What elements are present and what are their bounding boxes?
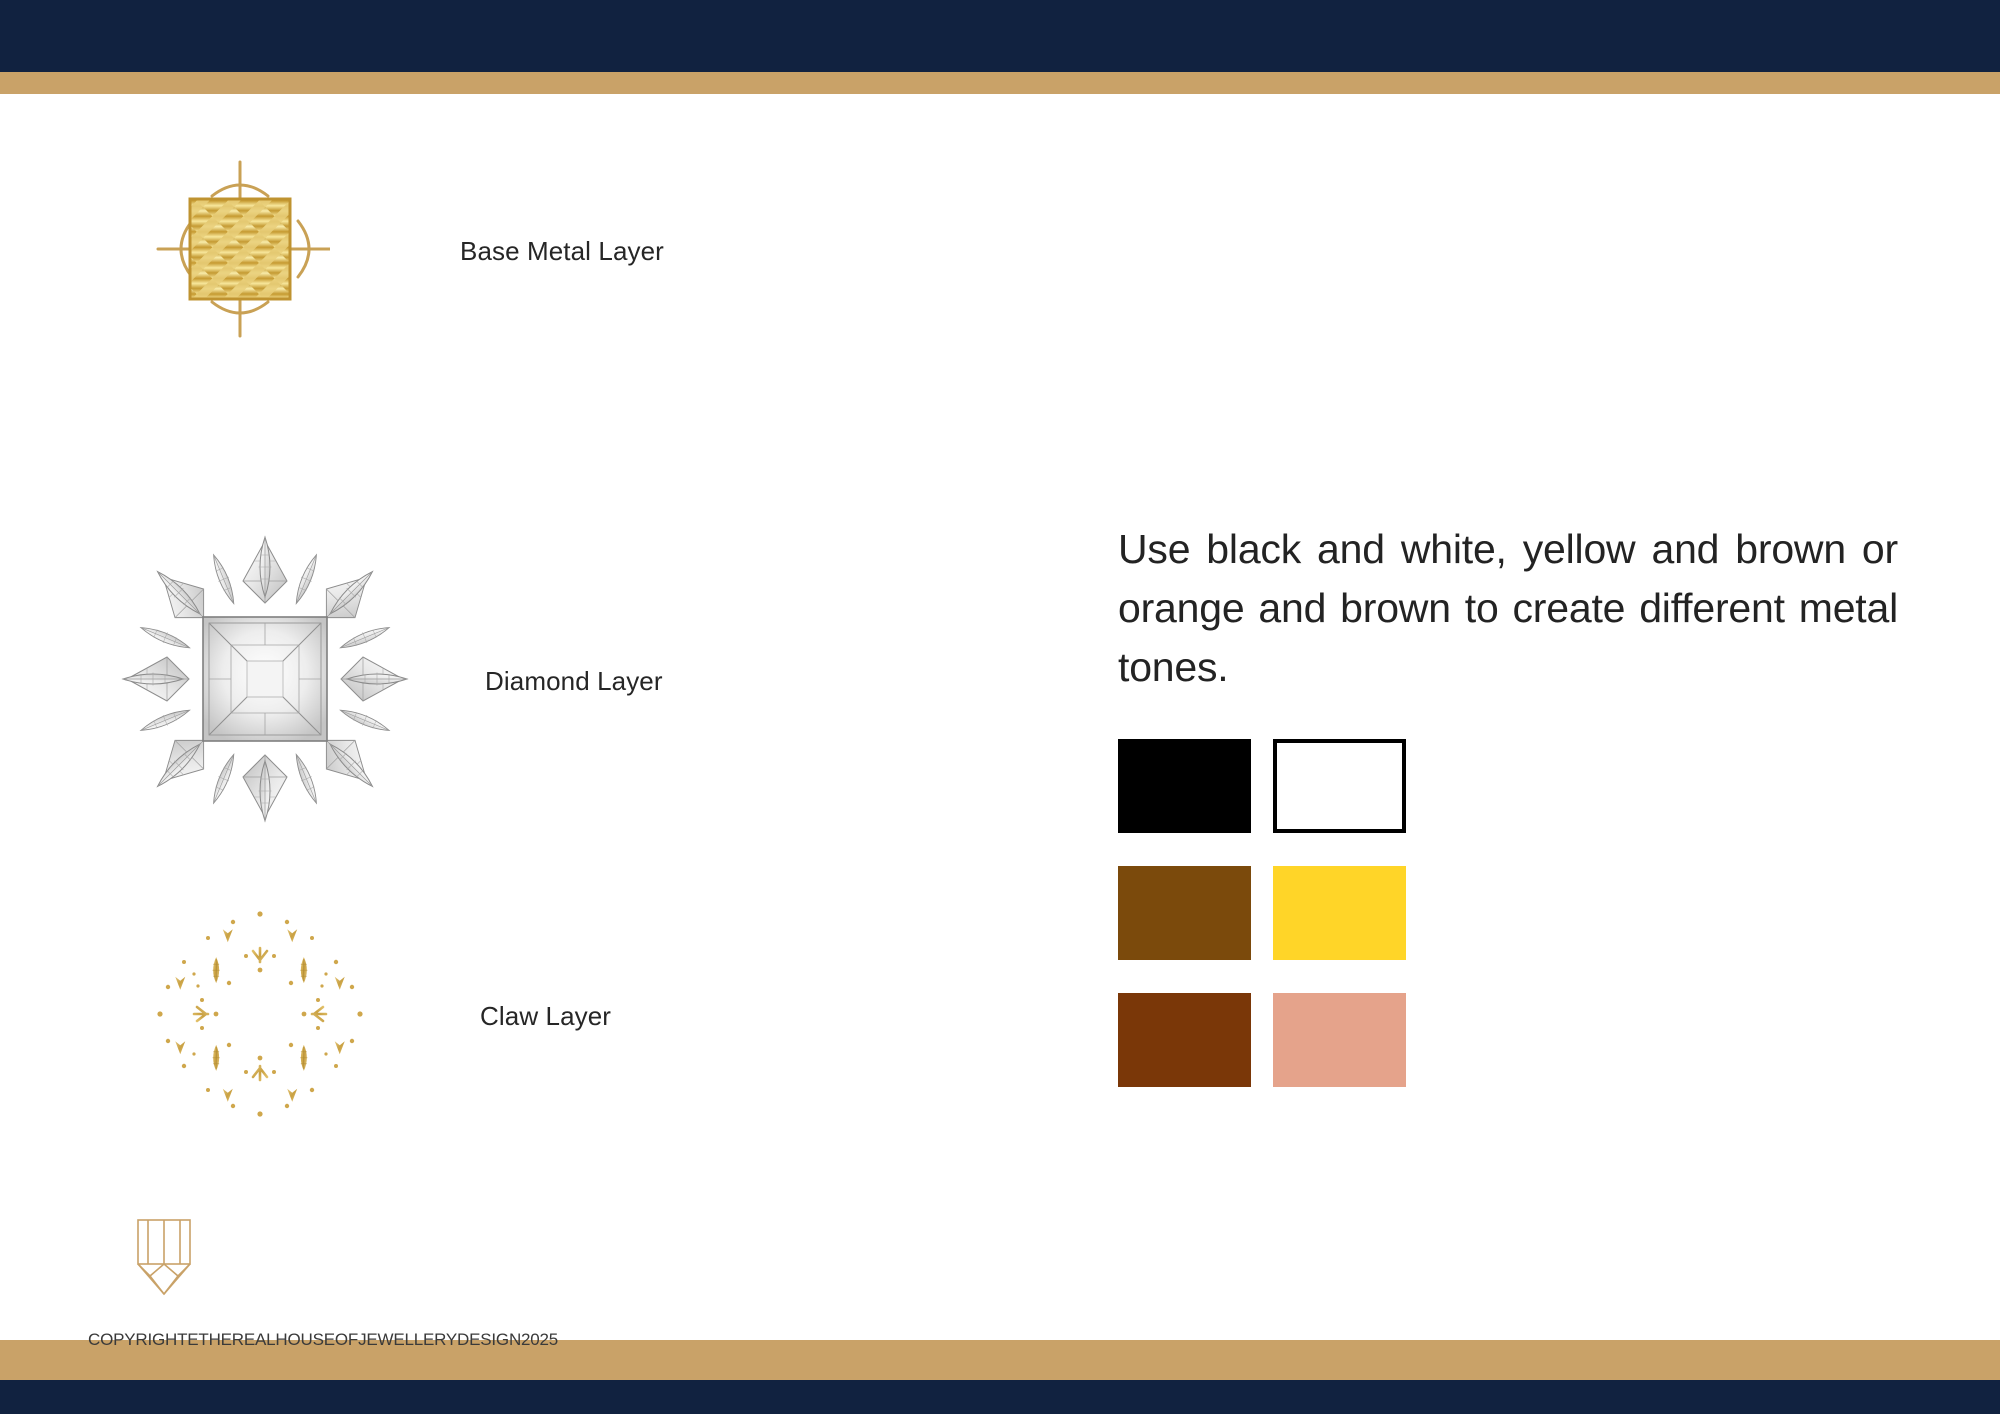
slide-canvas: Base Metal Layer <box>0 0 2000 1414</box>
color-swatch-grid <box>1118 739 1898 1087</box>
swatch-medium-brown[interactable] <box>1118 866 1251 960</box>
swatch-dark-brown[interactable] <box>1118 993 1251 1087</box>
swatch-gap <box>1251 866 1273 960</box>
swatch-row-gap <box>1118 833 1140 866</box>
layer-diagram-list: Base Metal Layer <box>0 94 1060 1274</box>
brand-logo <box>134 1218 194 1296</box>
swatch-gap <box>1251 739 1273 833</box>
base-metal-visual <box>150 154 330 349</box>
swatch-white[interactable] <box>1273 739 1406 833</box>
layer-row-diamond: Diamond Layer <box>120 534 663 829</box>
layer-label-base-metal: Base Metal Layer <box>460 236 664 267</box>
layer-row-claw: Claw Layer <box>150 904 611 1129</box>
claw-ring-visual <box>150 904 370 1129</box>
diamond-cluster-visual <box>120 534 410 829</box>
swatch-row-gap <box>1251 833 1273 866</box>
gold-hatched-square-icon <box>150 154 330 344</box>
copyright-notice: COPYRIGHTETHEREALHOUSEOFJEWELLERYDESIGN2… <box>88 1330 558 1350</box>
metal-tone-panel: Use black and white, yellow and brown or… <box>1118 520 1898 1087</box>
layer-row-base-metal: Base Metal Layer <box>150 154 664 349</box>
swatch-yellow[interactable] <box>1273 866 1406 960</box>
swatch-row-gap <box>1273 960 1295 993</box>
swatch-row-gap <box>1118 960 1140 993</box>
layer-label-claw: Claw Layer <box>480 1001 611 1032</box>
header-gold-stripe <box>0 72 2000 94</box>
swatch-row-gap <box>1273 833 1295 866</box>
gold-claw-prong-ring-icon <box>150 904 370 1124</box>
footer-navy-band <box>0 1380 2000 1414</box>
layer-label-diamond: Diamond Layer <box>485 666 663 697</box>
swatch-black[interactable] <box>1118 739 1251 833</box>
swatch-row-gap <box>1251 960 1273 993</box>
swatch-rose-gold[interactable] <box>1273 993 1406 1087</box>
header-navy-band <box>0 0 2000 72</box>
princess-cut-diamond-cluster-icon <box>120 534 410 824</box>
swatch-gap <box>1251 993 1273 1087</box>
gem-pencil-logo-icon <box>134 1218 194 1296</box>
metal-tone-description: Use black and white, yellow and brown or… <box>1118 520 1898 697</box>
